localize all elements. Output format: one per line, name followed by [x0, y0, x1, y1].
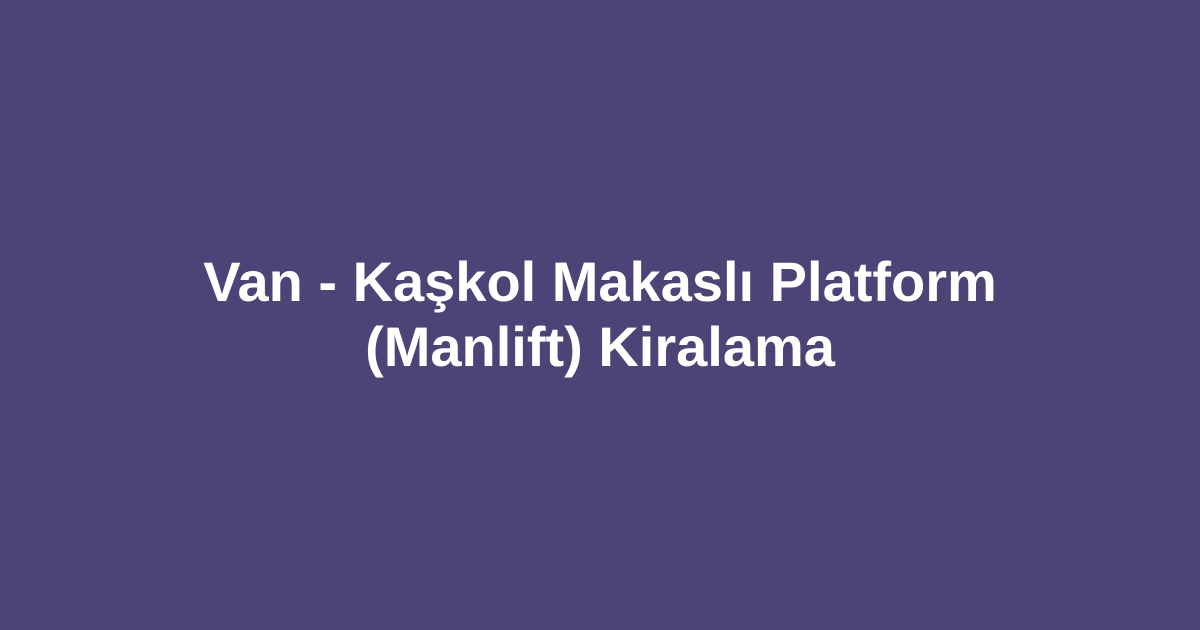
share-card-content: Van - Kaşkol Makaslı Platform (Manlift) …: [100, 250, 1100, 380]
page-title: Van - Kaşkol Makaslı Platform (Manlift) …: [203, 250, 997, 380]
share-card: Van - Kaşkol Makaslı Platform (Manlift) …: [0, 0, 1200, 630]
